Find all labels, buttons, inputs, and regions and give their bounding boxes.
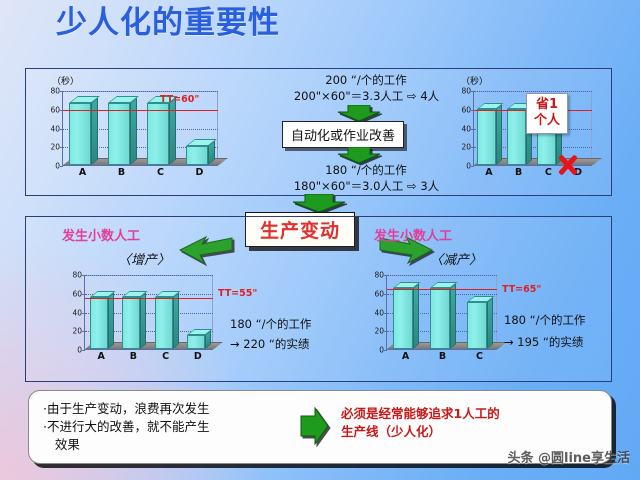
y-tick-label: 0 [77,346,82,354]
bar-front [187,335,205,349]
bar-side [169,98,176,165]
x-label-D: D [194,351,202,362]
bar-side [91,98,98,165]
plot-area: 020406080ABC [386,275,497,350]
bar-side [413,283,419,349]
chart-top-right-unit: （秒） [461,74,488,87]
y-tick-label: 80 [461,87,471,95]
mid-right-note-line1: 180 “/个的工作 [504,313,585,329]
gridline [85,275,213,276]
chart-top-left: （秒） 020406080ABCD TT=60" [40,75,230,187]
y-tick-label: 0 [379,346,384,354]
tt-label-mid-left: TT=55" [218,288,257,299]
top-center-line2: 200"×60"＝3.3人工 ⇨ 4人 [264,89,469,105]
bar-front [122,297,140,349]
red-x-icon [555,153,581,177]
x-label-B: B [118,167,125,178]
bar-side [496,104,502,165]
top-center-line4: 180"×60"＝3.0人工 ⇨ 3人 [264,179,469,195]
bar-A [69,103,91,165]
bar-front [155,297,173,349]
tt-label-mid-right: TT=65" [502,284,541,295]
improvement-box: 自动化或作业改善 [282,121,404,148]
x-label-B: B [515,167,522,178]
saving-callout-line1: 省1 [534,97,560,113]
bar-front [507,109,526,165]
bar-front [90,297,108,349]
mid-left-note-line1: 180 “/个的工作 [230,317,311,333]
bar-front [467,302,487,349]
bar-side [130,98,137,165]
down-arrow-icon-2 [336,147,382,163]
top-center-line3: 180 “/个的工作 [271,163,461,179]
x-label-D: D [196,167,204,178]
bar-front [147,103,169,165]
bar-side [108,293,114,349]
y-tick-label: 20 [461,144,471,152]
y-tickmark [60,166,63,167]
y-tick-label: 60 [72,290,82,298]
x-label-C: C [157,167,164,178]
bar-A [477,109,496,165]
plot-area: 020406080ABCD [84,275,213,350]
gridline [387,275,497,276]
top-center-line1: 200 “/个的工作 [271,73,461,89]
x-label-C: C [476,351,483,362]
chart-mid-left: 020406080ABCD TT=55" [62,271,252,371]
y-tick-label: 60 [461,106,471,114]
tt-label-top-left: TT=60" [160,94,199,105]
bar-side [487,297,493,349]
bar-B [122,297,140,349]
x-label-C: C [162,351,169,362]
bar-front [477,109,496,165]
down-arrow-icon [336,105,382,121]
bar-front [186,146,208,165]
y-tickmark [384,350,387,351]
takt-time-line [85,298,213,299]
y-tickmark [82,350,85,351]
bar-side [450,283,456,349]
watermark: 头条 @圆line享生活 [507,447,630,466]
bar-front [108,103,130,165]
y-tick-label: 40 [72,309,82,317]
y-tick-label: 0 [55,162,60,170]
y-tick-label: 80 [72,271,82,279]
y-tickmark [471,166,474,167]
bar-front [430,288,450,349]
takt-time-line [63,110,218,111]
x-label-B: B [439,351,446,362]
chart-top-left-unit: （秒） [52,74,79,87]
page-title: 少人化的重要性 [56,8,280,39]
bottom-conclusion: 必须是经常能够追求1人工的 生产线（少人化） [341,405,500,441]
bar-C [147,103,169,165]
x-label-B: B [130,351,137,362]
x-label-A: A [485,167,492,178]
y-tick-label: 40 [50,125,60,133]
mid-left-pink-title: 发生小数人工 [62,225,140,244]
bar-A [90,297,108,349]
takt-time-line [387,289,497,290]
gridline [63,91,218,92]
y-tick-label: 60 [374,290,384,298]
slide-canvas: 少人化的重要性 （秒） 020406080ABCD TT=60" 200 “/个… [0,0,640,480]
saving-callout-line2: 个人 [534,113,560,129]
y-tick-label: 80 [374,271,384,279]
y-tick-label: 20 [72,328,82,336]
mid-panel: 发生小数人工 〈增产〉 020406080ABCD TT=55" 180 “/个… [25,216,612,382]
bottom-bullets: ·由于生产变动，浪费再次发生 ·不进行大的改善，就不能产生 效果 [43,400,209,454]
bar-A [393,288,413,349]
bar-D [186,146,208,165]
mid-right-note-line2: → 195 “的实绩 [504,335,583,351]
mid-left-subtitle: 〈增产〉 [118,249,170,268]
mid-right-subtitle: 〈减产〉 [430,249,482,268]
bar-C [467,302,487,349]
bar-front [69,103,91,165]
banner-down-arrow-icon [291,194,347,212]
right-arrow-icon [299,407,329,445]
top-panel: （秒） 020406080ABCD TT=60" 200 “/个的工作 200"… [25,68,612,196]
y-tick-label: 60 [50,106,60,114]
bar-front [393,288,413,349]
bar-D [187,335,205,349]
y-tick-label: 40 [461,125,471,133]
x-label-C: C [545,167,552,178]
bar-side [173,293,179,349]
bar-B [430,288,450,349]
x-label-A: A [79,167,86,178]
y-tick-label: 40 [374,309,384,317]
bar-C [155,297,173,349]
y-tick-label: 20 [50,144,60,152]
x-label-A: A [402,351,409,362]
saving-callout: 省1 个人 [526,93,568,134]
y-tick-label: 20 [374,328,384,336]
x-label-A: A [97,351,104,362]
y-tick-label: 80 [50,87,60,95]
mid-right-pink-title: 发生小数人工 [374,225,452,244]
gridline [474,91,592,92]
bar-B [108,103,130,165]
mid-left-note-line2: → 220 “的实绩 [230,337,309,353]
y-tick-label: 0 [466,162,471,170]
bar-side [140,293,146,349]
bar-B [507,109,526,165]
